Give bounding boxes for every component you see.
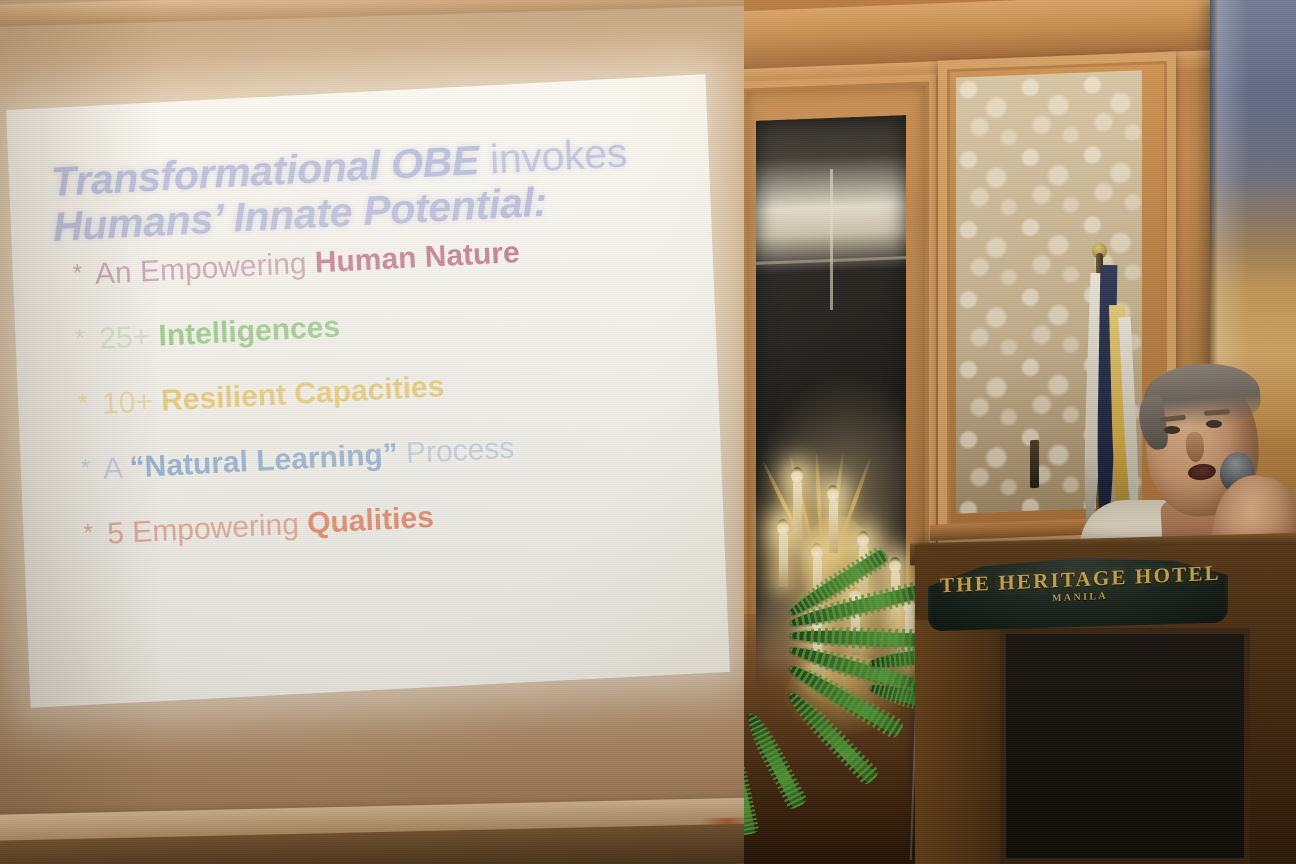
candle-flame [827,485,839,501]
presenter-eye-right [1206,420,1222,428]
candle-flame [857,531,869,547]
window-mullion-vertical [830,169,833,310]
hotel-function-room: THE HERITAGE HOTEL MANILA [700,0,1296,864]
lectern-side-panel [915,620,1003,864]
presenter-eye-left [1164,426,1180,434]
candle-flame [889,557,901,573]
chandelier-candle [779,533,788,587]
photograph-scene: THE HERITAGE HOTEL MANILA Transformation… [0,0,1296,864]
screen-vignette [0,0,744,864]
chandelier-candle [793,481,802,535]
candle-flame [777,519,789,535]
candle-flame [791,467,803,483]
wall-fixture [1030,440,1039,488]
projector-screen: Transformational OBE invokes Humans’ Inn… [0,0,744,864]
chandelier-candle [829,499,838,553]
candle-flame [811,543,823,559]
lectern-front-panel [1000,628,1250,864]
